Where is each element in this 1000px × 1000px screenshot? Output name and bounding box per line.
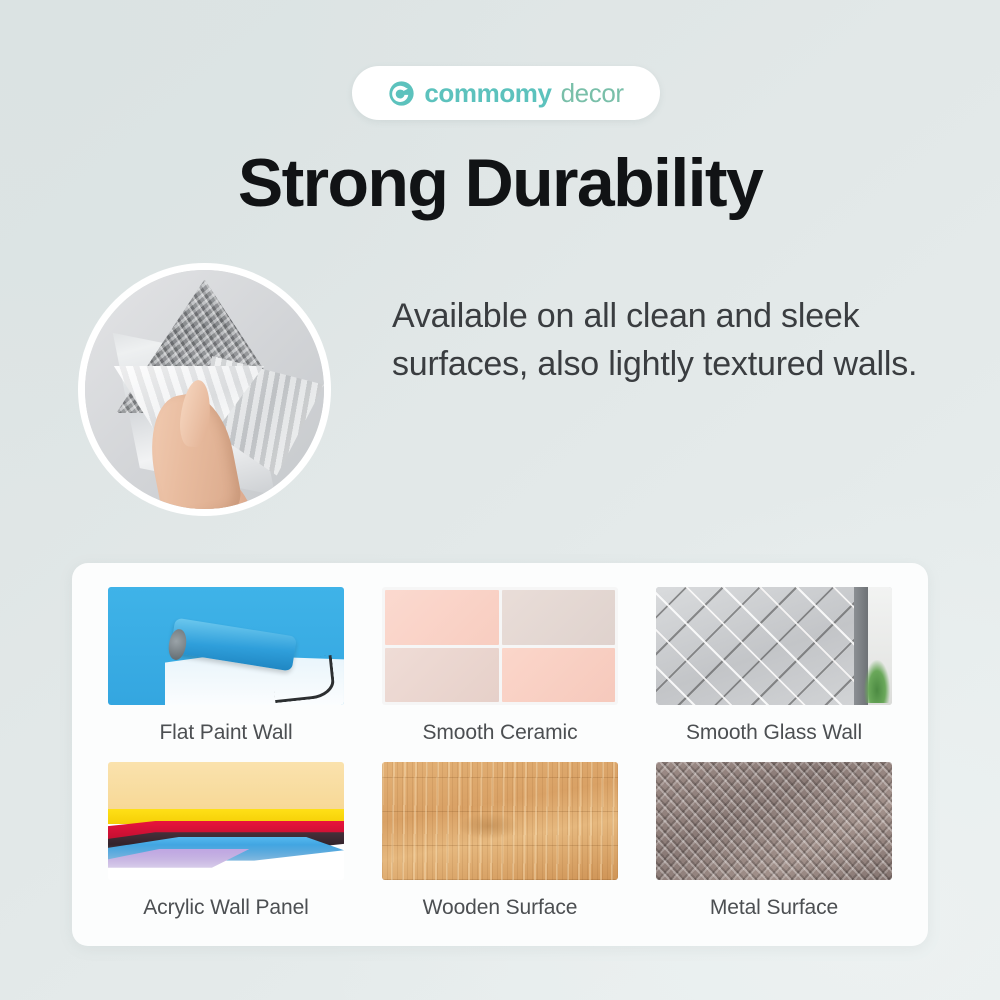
wood-grain-knot [458,813,519,839]
brand-logo[interactable]: commomy decor [352,66,660,120]
surface-label: Smooth Ceramic [423,721,578,745]
ceramic-tile [385,648,499,703]
herringbone-pattern [656,587,864,705]
surfaces-grid: Flat Paint Wall Smooth Ceramic Smooth Gl… [72,563,928,946]
commomy-circle-logo-icon [388,80,415,107]
photo-fade [108,762,344,880]
surface-label: Metal Surface [710,896,838,920]
page-title: Strong Durability [0,149,1000,217]
oak-wood-planks-photo [382,762,618,880]
ceramic-tile [502,648,616,703]
surface-card-smooth-ceramic: Smooth Ceramic [368,587,632,758]
roller-end-cap [167,628,188,661]
surface-label: Smooth Glass Wall [686,721,862,745]
stacked-acrylic-sheets-photo [108,762,344,880]
paint-roller-blue-wall-photo [108,587,344,705]
surfaces-panel: Flat Paint Wall Smooth Ceramic Smooth Gl… [72,563,928,946]
brand-name-secondary: decor [561,80,624,106]
diamond-plate-metal-photo [656,762,892,880]
ceramic-tile [502,590,616,645]
surface-card-flat-paint-wall: Flat Paint Wall [94,587,358,758]
foil-panel-photo [85,270,324,509]
hero-product-image [78,263,331,516]
surface-card-wooden-surface: Wooden Surface [368,762,632,933]
plant-icon [864,660,890,702]
herringbone-glass-wall-photo [656,587,892,705]
body-copy: Available on all clean and sleek surface… [392,292,944,389]
surface-card-metal-surface: Metal Surface [642,762,906,933]
surface-label: Flat Paint Wall [159,721,292,745]
surface-card-acrylic-wall-panel: Acrylic Wall Panel [94,762,358,933]
surface-label: Wooden Surface [423,896,578,920]
pink-ceramic-tiles-photo [382,587,618,705]
brand-name-primary: commomy [424,80,551,106]
ceramic-tile [385,590,499,645]
surface-label: Acrylic Wall Panel [143,896,308,920]
surface-card-smooth-glass-wall: Smooth Glass Wall [642,587,906,758]
